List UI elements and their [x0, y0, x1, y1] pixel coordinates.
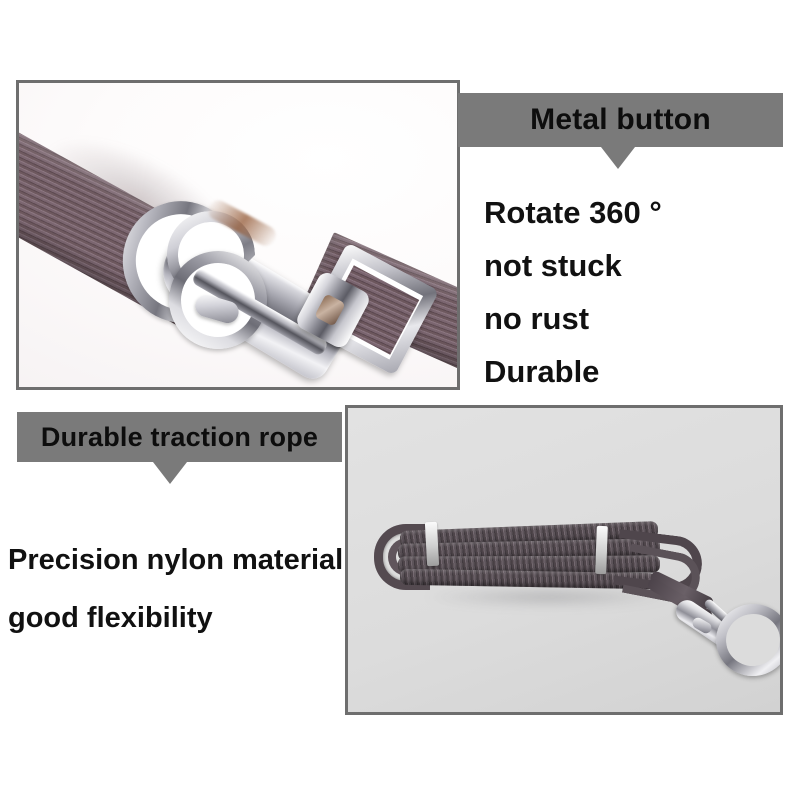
- feature-item: Rotate 360 °: [484, 186, 662, 239]
- feature-item: good flexibility: [8, 589, 343, 647]
- banner-metal-button-tail-icon: [601, 147, 635, 169]
- banner-metal-button: Metal button: [458, 93, 783, 147]
- product-photo-coiled-leash: [345, 405, 783, 715]
- banner-metal-button-label: Metal button: [530, 103, 711, 137]
- banner-durable-traction-rope-label: Durable traction rope: [41, 422, 318, 453]
- feature-item: Precision nylon material: [8, 531, 343, 589]
- product-photo-metal-snap-hook: [16, 80, 460, 390]
- banner-durable-traction-rope-tail-icon: [153, 462, 187, 484]
- banner-durable-traction-rope: Durable traction rope: [17, 412, 342, 462]
- feature-list-traction-rope: Precision nylon material good flexibilit…: [8, 531, 343, 647]
- leash-keeper-band: [425, 522, 439, 567]
- feature-item: no rust: [484, 292, 662, 345]
- feature-list-metal-button: Rotate 360 ° not stuck no rust Durable: [484, 186, 662, 398]
- leash-keeper-band: [595, 526, 608, 574]
- infographic-canvas: Metal button Rotate 360 ° not stuck no r…: [0, 0, 800, 800]
- leash-illustration: [348, 408, 780, 712]
- hook-illustration: [19, 83, 457, 387]
- feature-item: Durable: [484, 345, 662, 398]
- feature-item: not stuck: [484, 239, 662, 292]
